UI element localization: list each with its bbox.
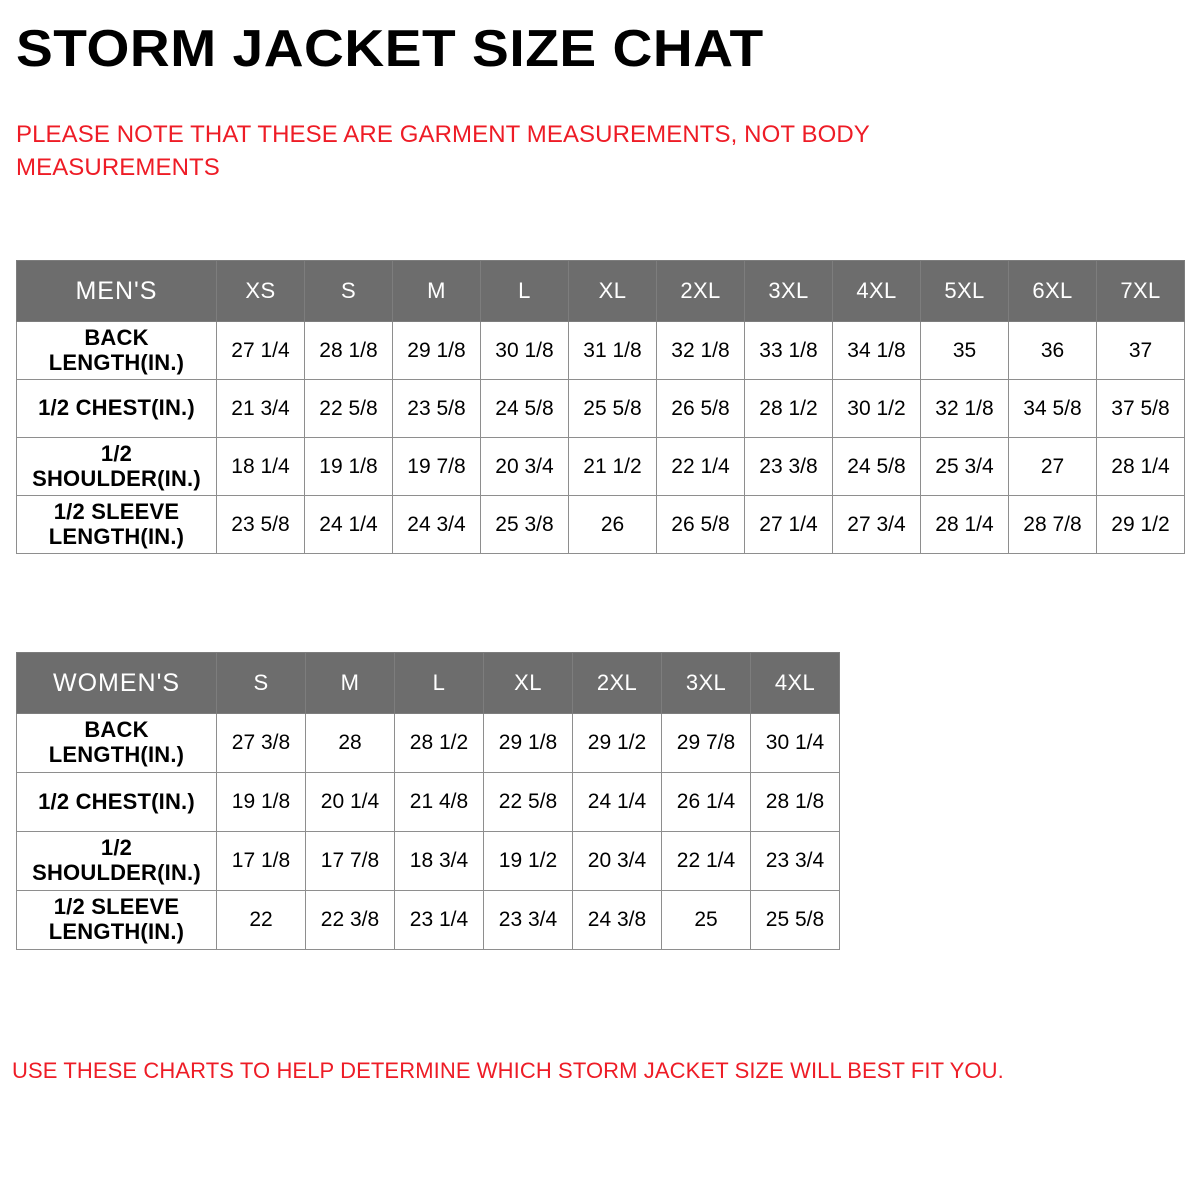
mens-cell: 28 1/2 [745,380,833,438]
womens-size-header-3xl: 3XL [662,653,751,714]
mens-cell: 28 1/4 [1097,438,1185,496]
mens-cell: 30 1/2 [833,380,921,438]
womens-corner-label: WOMEN'S [17,653,217,714]
mens-cell: 25 3/4 [921,438,1009,496]
mens-size-header-2xl: 2XL [657,261,745,322]
mens-cell: 27 1/4 [745,496,833,554]
mens-cell: 20 3/4 [481,438,569,496]
table-row: 1/2 CHEST(IN.)19 1/820 1/421 4/822 5/824… [17,773,840,832]
womens-cell: 18 3/4 [395,832,484,891]
womens-cell: 25 5/8 [751,891,840,950]
mens-cell: 25 3/8 [481,496,569,554]
womens-cell: 27 3/8 [217,714,306,773]
table-row: BACK LENGTH(IN.)27 1/428 1/829 1/830 1/8… [17,322,1185,380]
mens-row-label: 1/2 SLEEVE LENGTH(IN.) [17,496,217,554]
mens-cell: 29 1/8 [393,322,481,380]
mens-table-header: MEN'SXSSMLXL2XL3XL4XL5XL6XL7XL [17,261,1185,322]
table-row: 1/2 CHEST(IN.)21 3/422 5/823 5/824 5/825… [17,380,1185,438]
womens-size-header-l: L [395,653,484,714]
mens-size-table: MEN'SXSSMLXL2XL3XL4XL5XL6XL7XL BACK LENG… [16,260,1185,554]
womens-row-label: 1/2 CHEST(IN.) [17,773,217,832]
mens-cell: 34 1/8 [833,322,921,380]
womens-cell: 29 1/2 [573,714,662,773]
mens-cell: 30 1/8 [481,322,569,380]
mens-size-header-xl: XL [569,261,657,322]
womens-cell: 19 1/2 [484,832,573,891]
mens-size-header-5xl: 5XL [921,261,1009,322]
womens-cell: 29 7/8 [662,714,751,773]
mens-table-body: BACK LENGTH(IN.)27 1/428 1/829 1/830 1/8… [17,322,1185,554]
page-title: STORM JACKET SIZE CHAT [16,22,764,77]
womens-cell: 26 1/4 [662,773,751,832]
mens-cell: 27 1/4 [217,322,305,380]
womens-cell: 22 [217,891,306,950]
womens-row-label: BACK LENGTH(IN.) [17,714,217,773]
mens-cell: 26 [569,496,657,554]
table-row: 1/2 SLEEVE LENGTH(IN.)23 5/824 1/424 3/4… [17,496,1185,554]
mens-cell: 34 5/8 [1009,380,1097,438]
mens-cell: 22 1/4 [657,438,745,496]
mens-cell: 25 5/8 [569,380,657,438]
mens-size-header-xs: XS [217,261,305,322]
mens-cell: 26 5/8 [657,380,745,438]
mens-size-header-s: S [305,261,393,322]
mens-row-label: 1/2 CHEST(IN.) [17,380,217,438]
mens-cell: 33 1/8 [745,322,833,380]
table-row: 1/2 SLEEVE LENGTH(IN.)2222 3/823 1/423 3… [17,891,840,950]
mens-cell: 19 1/8 [305,438,393,496]
womens-size-header-2xl: 2XL [573,653,662,714]
mens-cell: 19 7/8 [393,438,481,496]
womens-header-row: WOMEN'SSMLXL2XL3XL4XL [17,653,840,714]
mens-cell: 28 1/4 [921,496,1009,554]
womens-cell: 22 1/4 [662,832,751,891]
womens-size-header-4xl: 4XL [751,653,840,714]
table-row: 1/2 SHOULDER(IN.)17 1/817 7/818 3/419 1/… [17,832,840,891]
garment-measurement-note: PLEASE NOTE THAT THESE ARE GARMENT MEASU… [16,118,976,184]
mens-size-header-3xl: 3XL [745,261,833,322]
womens-cell: 17 7/8 [306,832,395,891]
womens-cell: 28 1/2 [395,714,484,773]
mens-cell: 35 [921,322,1009,380]
mens-cell: 21 1/2 [569,438,657,496]
mens-cell: 29 1/2 [1097,496,1185,554]
womens-cell: 22 3/8 [306,891,395,950]
womens-cell: 23 1/4 [395,891,484,950]
mens-cell: 18 1/4 [217,438,305,496]
mens-cell: 22 5/8 [305,380,393,438]
mens-size-header-l: L [481,261,569,322]
womens-cell: 17 1/8 [217,832,306,891]
womens-cell: 30 1/4 [751,714,840,773]
womens-row-label: 1/2 SHOULDER(IN.) [17,832,217,891]
womens-row-label: 1/2 SLEEVE LENGTH(IN.) [17,891,217,950]
table-row: BACK LENGTH(IN.)27 3/82828 1/229 1/829 1… [17,714,840,773]
mens-cell: 37 5/8 [1097,380,1185,438]
mens-row-label: 1/2 SHOULDER(IN.) [17,438,217,496]
womens-cell: 23 3/4 [484,891,573,950]
mens-cell: 26 5/8 [657,496,745,554]
womens-cell: 19 1/8 [217,773,306,832]
womens-size-header-s: S [217,653,306,714]
womens-cell: 22 5/8 [484,773,573,832]
womens-cell: 29 1/8 [484,714,573,773]
womens-cell: 28 1/8 [751,773,840,832]
mens-size-header-m: M [393,261,481,322]
mens-cell: 32 1/8 [657,322,745,380]
womens-cell: 20 1/4 [306,773,395,832]
womens-cell: 21 4/8 [395,773,484,832]
womens-cell: 23 3/4 [751,832,840,891]
womens-cell: 25 [662,891,751,950]
womens-table-body: BACK LENGTH(IN.)27 3/82828 1/229 1/829 1… [17,714,840,950]
mens-header-row: MEN'SXSSMLXL2XL3XL4XL5XL6XL7XL [17,261,1185,322]
mens-row-label: BACK LENGTH(IN.) [17,322,217,380]
mens-cell: 24 5/8 [481,380,569,438]
mens-cell: 24 5/8 [833,438,921,496]
mens-cell: 36 [1009,322,1097,380]
mens-cell: 23 5/8 [393,380,481,438]
mens-cell: 28 1/8 [305,322,393,380]
mens-size-table-container: MEN'SXSSMLXL2XL3XL4XL5XL6XL7XL BACK LENG… [16,260,1184,554]
mens-cell: 23 3/8 [745,438,833,496]
womens-cell: 28 [306,714,395,773]
mens-cell: 27 3/4 [833,496,921,554]
mens-cell: 28 7/8 [1009,496,1097,554]
mens-cell: 24 3/4 [393,496,481,554]
mens-size-header-4xl: 4XL [833,261,921,322]
mens-cell: 23 5/8 [217,496,305,554]
womens-cell: 24 1/4 [573,773,662,832]
use-charts-note: USE THESE CHARTS TO HELP DETERMINE WHICH… [12,1058,1192,1084]
womens-table-header: WOMEN'SSMLXL2XL3XL4XL [17,653,840,714]
mens-cell: 27 [1009,438,1097,496]
mens-cell: 32 1/8 [921,380,1009,438]
mens-cell: 31 1/8 [569,322,657,380]
table-row: 1/2 SHOULDER(IN.)18 1/419 1/819 7/820 3/… [17,438,1185,496]
womens-cell: 24 3/8 [573,891,662,950]
mens-cell: 37 [1097,322,1185,380]
mens-cell: 21 3/4 [217,380,305,438]
womens-size-table: WOMEN'SSMLXL2XL3XL4XL BACK LENGTH(IN.)27… [16,652,840,950]
size-chart-page: STORM JACKET SIZE CHAT PLEASE NOTE THAT … [0,0,1200,1200]
womens-cell: 20 3/4 [573,832,662,891]
mens-size-header-6xl: 6XL [1009,261,1097,322]
mens-cell: 24 1/4 [305,496,393,554]
womens-size-header-xl: XL [484,653,573,714]
mens-size-header-7xl: 7XL [1097,261,1185,322]
womens-size-table-container: WOMEN'SSMLXL2XL3XL4XL BACK LENGTH(IN.)27… [16,652,840,950]
mens-corner-label: MEN'S [17,261,217,322]
womens-size-header-m: M [306,653,395,714]
